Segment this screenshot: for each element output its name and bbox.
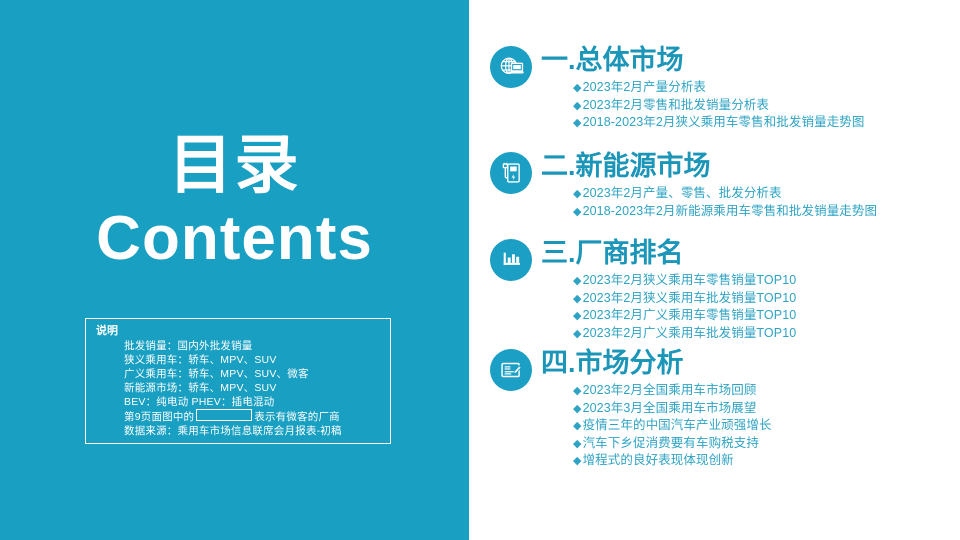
toc-item-label: 2018-2023年2月狭义乘用车零售和批发销量走势图 xyxy=(583,115,865,129)
toc-item-label: 2023年2月零售和批发销量分析表 xyxy=(583,98,769,112)
note-line: 广义乘用车：轿车、MPV、SUV、微客 xyxy=(124,367,390,381)
toc-section-2-heading: 二.新能源市场 xyxy=(541,150,711,182)
toc-item-label: 2023年2月广义乘用车批发销量TOP10 xyxy=(583,326,797,340)
cover-title-block: 目录 Contents xyxy=(0,132,469,273)
toc-item-label: 2023年2月产量分析表 xyxy=(583,80,706,94)
toc-item-label: 增程式的良好表现体现创新 xyxy=(583,453,734,467)
toc-item[interactable]: ◆汽车下乡促消费要有车购税支持 xyxy=(573,435,772,453)
globe-laptop-icon xyxy=(490,46,532,88)
toc-item[interactable]: ◆2023年2月狭义乘用车批发销量TOP10 xyxy=(573,290,796,308)
note-source-line: 数据来源：乘用车市场信息联席会月报表-初稿 xyxy=(124,424,390,438)
bar-chart-icon xyxy=(490,239,532,281)
bullet-diamond-icon: ◆ xyxy=(573,100,582,112)
note-line-prefix: 第9页面图中的 xyxy=(124,411,194,423)
toc-item-label: 2023年2月狭义乘用车零售销量TOP10 xyxy=(583,273,797,287)
toc-section-1-items: ◆2023年2月产量分析表 ◆2023年2月零售和批发销量分析表 ◆2018-2… xyxy=(573,79,865,132)
note-line: 批发销量：国内外批发销量 xyxy=(124,339,390,353)
toc-item[interactable]: ◆2023年2月广义乘用车批发销量TOP10 xyxy=(573,325,796,343)
toc-item-label: 2023年3月全国乘用车市场展望 xyxy=(583,401,757,415)
toc-section-3-items: ◆2023年2月狭义乘用车零售销量TOP10 ◆2023年2月狭义乘用车批发销量… xyxy=(573,272,796,342)
legend-note-box: 说明 批发销量：国内外批发销量 狭义乘用车：轿车、MPV、SUV 广义乘用车：轿… xyxy=(85,318,391,444)
toc-section-4-heading: 四.市场分析 xyxy=(541,347,684,379)
toc-item-label: 2023年2月狭义乘用车批发销量TOP10 xyxy=(583,291,797,305)
toc-section-4-items: ◆2023年2月全国乘用车市场回顾 ◆2023年3月全国乘用车市场展望 ◆疫情三… xyxy=(573,382,772,470)
legend-note-title: 说明 xyxy=(96,325,390,338)
toc-item[interactable]: ◆2023年2月产量分析表 xyxy=(573,79,865,97)
toc-section-1-heading: 一.总体市场 xyxy=(541,44,684,76)
toc-column: 一.总体市场 ◆2023年2月产量分析表 ◆2023年2月零售和批发销量分析表 … xyxy=(469,0,960,540)
bullet-diamond-icon: ◆ xyxy=(573,188,582,200)
toc-section-2-items: ◆2023年2月产量、零售、批发分析表 ◆2018-2023年2月新能源乘用车零… xyxy=(573,185,877,220)
document-pen-icon xyxy=(490,349,532,391)
note-line-with-blank: 第9页面图中的表示有微客的厂商 xyxy=(124,409,390,424)
bullet-diamond-icon: ◆ xyxy=(573,293,582,305)
bullet-diamond-icon: ◆ xyxy=(573,206,582,218)
left-cover-panel: 目录 Contents 说明 批发销量：国内外批发销量 狭义乘用车：轿车、MPV… xyxy=(0,0,469,540)
toc-item[interactable]: ◆增程式的良好表现体现创新 xyxy=(573,452,772,470)
toc-item[interactable]: ◆2018-2023年2月狭义乘用车零售和批发销量走势图 xyxy=(573,114,865,132)
toc-item[interactable]: ◆2023年2月零售和批发销量分析表 xyxy=(573,97,865,115)
ev-charging-station-icon xyxy=(490,152,532,194)
slide-root: 目录 Contents 说明 批发销量：国内外批发销量 狭义乘用车：轿车、MPV… xyxy=(0,0,960,540)
toc-item[interactable]: ◆2023年2月全国乘用车市场回顾 xyxy=(573,382,772,400)
bullet-diamond-icon: ◆ xyxy=(573,438,582,450)
note-line-suffix: 表示有微客的厂商 xyxy=(254,411,340,423)
page-title-cn: 目录 xyxy=(0,132,469,199)
bullet-diamond-icon: ◆ xyxy=(573,275,582,287)
note-line: BEV：纯电动 PHEV：插电混动 xyxy=(124,395,390,409)
bullet-diamond-icon: ◆ xyxy=(573,403,582,415)
toc-item-label: 疫情三年的中国汽车产业顽强增长 xyxy=(583,418,772,432)
toc-item-label: 汽车下乡促消费要有车购税支持 xyxy=(583,436,759,450)
bullet-diamond-icon: ◆ xyxy=(573,82,582,94)
toc-item-label: 2023年2月全国乘用车市场回顾 xyxy=(583,383,757,397)
toc-item[interactable]: ◆疫情三年的中国汽车产业顽强增长 xyxy=(573,417,772,435)
note-line: 新能源市场：轿车、MPV、SUV xyxy=(124,381,390,395)
bullet-diamond-icon: ◆ xyxy=(573,117,582,129)
toc-item-label: 2018-2023年2月新能源乘用车零售和批发销量走势图 xyxy=(583,204,878,218)
bullet-diamond-icon: ◆ xyxy=(573,310,582,322)
bullet-diamond-icon: ◆ xyxy=(573,420,582,432)
bullet-diamond-icon: ◆ xyxy=(573,328,582,340)
bullet-diamond-icon: ◆ xyxy=(573,455,582,467)
page-title-en: Contents xyxy=(0,205,469,273)
toc-item[interactable]: ◆2023年3月全国乘用车市场展望 xyxy=(573,400,772,418)
toc-item[interactable]: ◆2023年2月产量、零售、批发分析表 xyxy=(573,185,877,203)
toc-section-3-heading: 三.厂商排名 xyxy=(541,237,684,269)
toc-item[interactable]: ◆2018-2023年2月新能源乘用车零售和批发销量走势图 xyxy=(573,203,877,221)
note-line: 狭义乘用车：轿车、MPV、SUV xyxy=(124,353,390,367)
blank-placeholder-box xyxy=(196,409,252,421)
toc-item-label: 2023年2月广义乘用车零售销量TOP10 xyxy=(583,308,797,322)
toc-item-label: 2023年2月产量、零售、批发分析表 xyxy=(583,186,782,200)
toc-item[interactable]: ◆2023年2月狭义乘用车零售销量TOP10 xyxy=(573,272,796,290)
toc-item[interactable]: ◆2023年2月广义乘用车零售销量TOP10 xyxy=(573,307,796,325)
bullet-diamond-icon: ◆ xyxy=(573,385,582,397)
